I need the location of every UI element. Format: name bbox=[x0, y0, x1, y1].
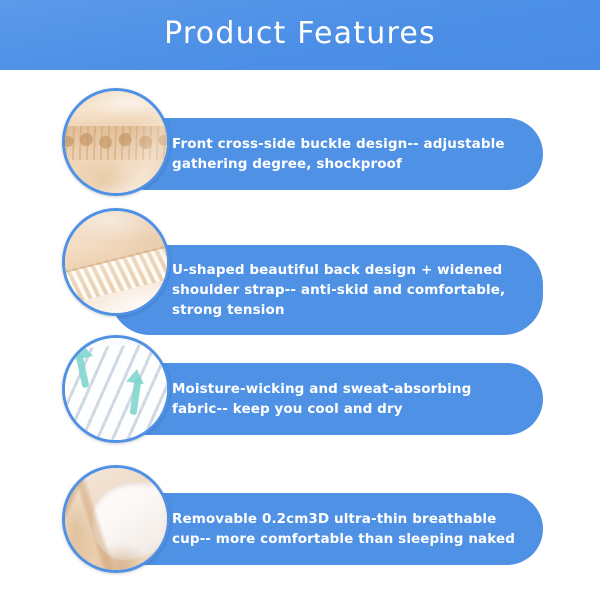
moisture-arrow-icon bbox=[126, 367, 146, 383]
feature-row: Moisture-wicking and sweat-absorbing fab… bbox=[0, 335, 600, 465]
feature-text-line: shoulder strap-- anti-skid and comfortab… bbox=[172, 280, 517, 300]
product-features-infographic: Product Features Front cross-side buckle… bbox=[0, 0, 600, 600]
feature-text-line: cup-- more comfortable than sleeping nak… bbox=[172, 529, 517, 549]
feature-text-line: Moisture-wicking and sweat-absorbing bbox=[172, 379, 517, 399]
feature-text-line: U-shaped beautiful back design + widened bbox=[172, 260, 517, 280]
page-title: Product Features bbox=[164, 19, 436, 51]
feature-text-pill: Removable 0.2cm3D ultra-thin breathable … bbox=[110, 493, 543, 565]
moisture-arrow-icon bbox=[130, 378, 142, 415]
feature-list: Front cross-side buckle design-- adjusta… bbox=[0, 70, 600, 600]
feature-row: Front cross-side buckle design-- adjusta… bbox=[0, 70, 600, 200]
feature-image-circle bbox=[62, 335, 170, 443]
feature-image-circle bbox=[62, 208, 170, 316]
u-shaped-back-lace-trim-photo bbox=[65, 211, 167, 313]
feature-row: U-shaped beautiful back design + widened… bbox=[0, 200, 600, 335]
moisture-arrow-icon bbox=[73, 342, 94, 359]
feature-text-line: Front cross-side buckle design-- adjusta… bbox=[172, 134, 517, 154]
feature-text-line: fabric-- keep you cool and dry bbox=[172, 399, 517, 419]
front-cross-buckle-lace-photo bbox=[65, 91, 167, 193]
feature-text-line: strong tension bbox=[172, 300, 517, 320]
feature-row: Removable 0.2cm3D ultra-thin breathable … bbox=[0, 465, 600, 595]
header-banner: Product Features bbox=[0, 0, 600, 70]
feature-text-pill: Front cross-side buckle design-- adjusta… bbox=[110, 118, 543, 190]
moisture-wicking-fabric-photo bbox=[65, 338, 167, 440]
feature-image-circle bbox=[62, 465, 170, 573]
feature-text-line: Removable 0.2cm3D ultra-thin breathable bbox=[172, 509, 517, 529]
feature-text-pill: U-shaped beautiful back design + widened… bbox=[110, 245, 543, 335]
feature-text-line: gathering degree, shockproof bbox=[172, 154, 517, 174]
feature-text-pill: Moisture-wicking and sweat-absorbing fab… bbox=[110, 363, 543, 435]
removable-breathable-cup-photo bbox=[65, 468, 167, 570]
feature-image-circle bbox=[62, 88, 170, 196]
